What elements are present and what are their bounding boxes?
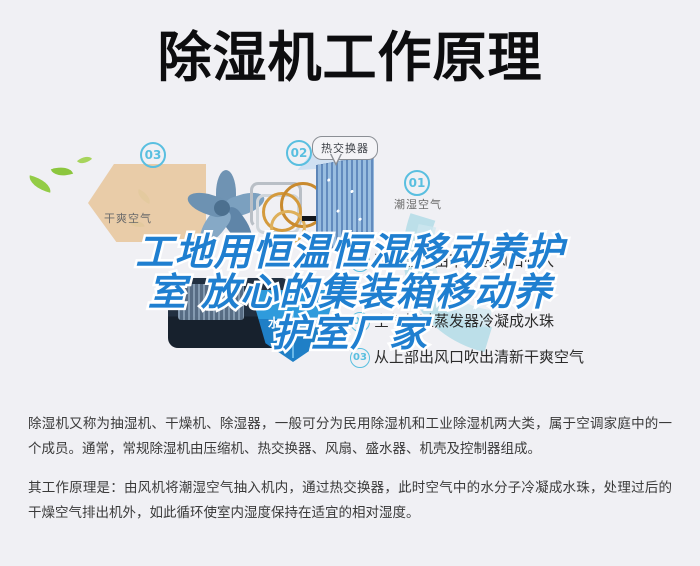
copper-coil [270,210,306,244]
callout-tail-icon [330,154,342,166]
step-caption-01: 01潮湿空气由下部进风口吸入 [350,250,554,272]
diagram-illustration: 干爽空气 水箱 03 02 01 [0,128,700,408]
wet-air-label: 潮湿空气 [394,196,442,212]
leaf-icon [51,163,73,180]
badge-02: 02 [286,140,312,166]
caption-badge-02: 02 [350,312,370,332]
fan-hub [214,200,230,216]
title-part-1: 除湿机 [158,30,323,87]
evaporator-block-icon [316,155,374,251]
badge-03: 03 [140,142,166,168]
paragraph-1: 除湿机又称为抽湿机、干燥机、除湿器，一般可分为民用除湿机和工业除湿机两大类，属于… [28,412,672,462]
page-title: 除湿机工作原理 [0,30,700,87]
infographic-page: 除湿机工作原理 干爽空气 [0,0,700,566]
caption-text-03: 从上部出风口吹出清新干爽空气 [374,348,584,366]
condensation-drops-icon [316,155,374,251]
paragraph-2: 其工作原理是：由风机将潮湿空气抽入机内，通过热交换器，此时空气中的水分子冷凝成水… [28,476,672,526]
title-part-2: 工作原理 [323,30,543,87]
caption-badge-03: 03 [350,348,370,368]
caption-text-02: 空气经过蒸发器冷凝成水珠 [374,312,554,330]
dry-air-label: 干爽空气 [104,210,152,226]
leaf-icon [27,175,53,192]
dehumidifier-grille [178,284,244,320]
leaf-icon [77,153,92,167]
water-tank-label: 水箱 [268,314,294,331]
badge-01: 01 [404,170,430,196]
step-caption-02: 02空气经过蒸发器冷凝成水珠 [350,310,554,332]
body-copy: 除湿机又称为抽湿机、干燥机、除湿器，一般可分为民用除湿机和工业除湿机两大类，属于… [0,412,700,540]
heat-exchanger-callout: 热交换器 [312,136,378,160]
caption-text-01: 潮湿空气由下部进风口吸入 [374,252,554,270]
step-caption-03: 03从上部出风口吹出清新干爽空气 [350,346,584,368]
caption-badge-01: 01 [350,252,370,272]
